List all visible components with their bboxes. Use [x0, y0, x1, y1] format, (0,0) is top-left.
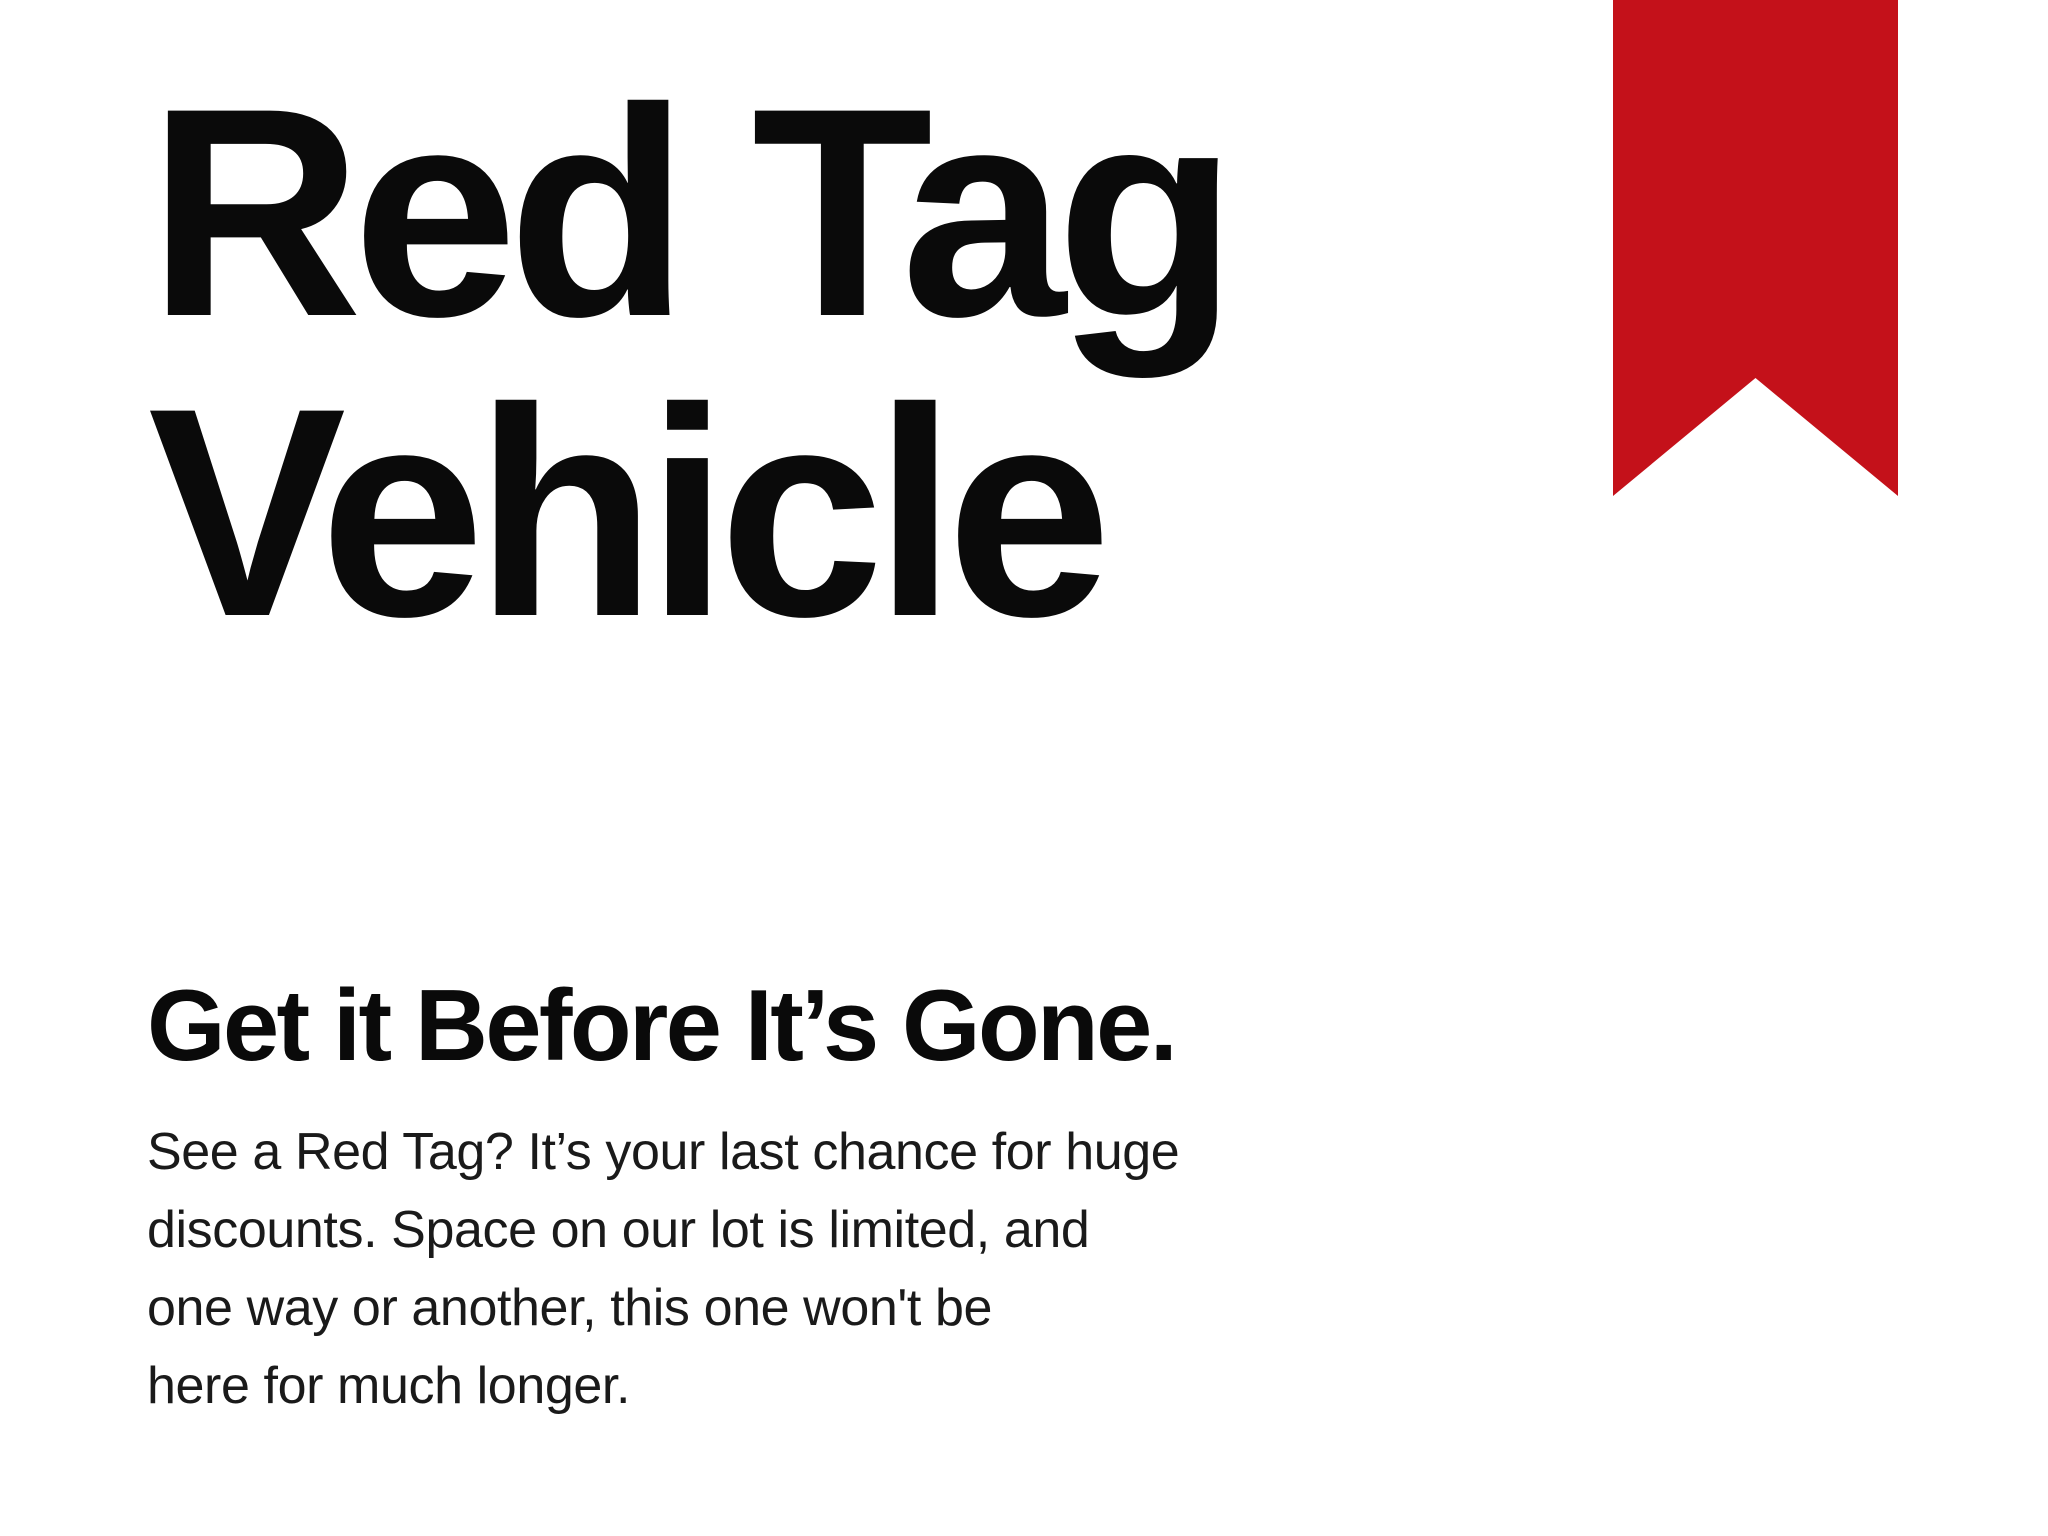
red-tag-promo-card: Red Tag Vehicle Get it Before It’s Gone.…: [0, 0, 2048, 1536]
body-copy-line-2: discounts. Space on our lot is limited, …: [147, 1191, 1179, 1269]
subheadline: Get it Before It’s Gone.: [147, 971, 1175, 1081]
red-ribbon-bookmark-icon: [1613, 0, 1898, 496]
body-copy-line-3: one way or another, this one won't be: [147, 1269, 1179, 1347]
headline-line-1: Red Tag: [148, 62, 1488, 362]
body-copy-line-1: See a Red Tag? It’s your last chance for…: [147, 1113, 1179, 1191]
body-copy-line-4: here for much longer.: [147, 1347, 1179, 1425]
headline-line-2: Vehicle: [148, 362, 1488, 662]
page-title: Red Tag Vehicle: [148, 62, 1488, 662]
body-copy: See a Red Tag? It’s your last chance for…: [147, 1113, 1179, 1425]
